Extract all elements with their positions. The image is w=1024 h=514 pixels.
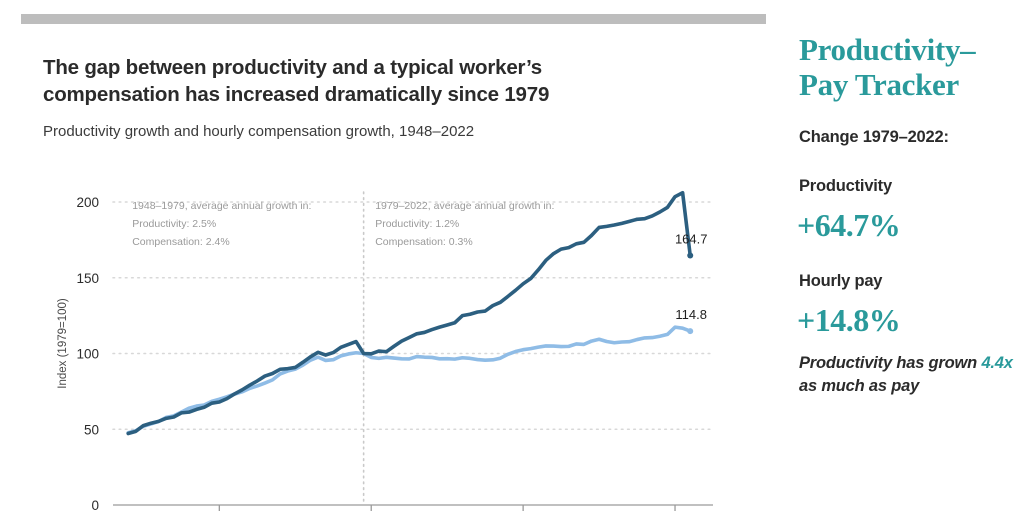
annotation-post-1979-block-line-1: 1979–2022, average annual growth in: <box>375 200 554 212</box>
annotation-post-1979-block-line-3: Compensation: 0.3% <box>375 236 472 248</box>
y-tick-label-200: 200 <box>76 195 99 210</box>
y-axis-label: Index (1979=100) <box>57 298 69 389</box>
annotation-post-1979-block-line-2: Productivity: 1.2% <box>375 218 459 230</box>
kicker-text-part-2: as much as pay <box>799 377 919 395</box>
productivity-metric-value: +64.7% <box>797 207 900 244</box>
kicker-statement: Productivity has grown 4.4x as much as p… <box>799 352 1021 399</box>
kicker-text-part-1: Productivity has grown <box>799 354 981 372</box>
hourly-pay-metric-value: +14.8% <box>797 302 900 339</box>
productivity-metric-label: Productivity <box>799 177 892 196</box>
tracker-title: Productivity– Pay Tracker <box>799 32 1024 102</box>
top-divider-rule <box>21 14 766 24</box>
end-value-label-hourly-compensation: 114.8 <box>675 307 707 322</box>
productivity-pay-tracker-figure: The gap between productivity and a typic… <box>0 0 1024 514</box>
series-endpoint-productivity <box>687 252 693 258</box>
hourly-pay-metric-label: Hourly pay <box>799 272 882 291</box>
kicker-highlight-value: 4.4x <box>981 354 1012 372</box>
chart-panel: The gap between productivity and a typic… <box>0 24 784 514</box>
series-endpoint-hourly-compensation <box>687 328 693 334</box>
annotation-pre-1979-block-line-2: Productivity: 2.5% <box>132 218 216 230</box>
annotation-pre-1979-block-line-3: Compensation: 2.4% <box>132 236 229 248</box>
chart-svg: 0501001502001960198020002020Index (1979=… <box>0 24 784 514</box>
y-tick-label-100: 100 <box>76 347 99 362</box>
series-line-hourly-compensation <box>128 327 690 433</box>
y-tick-label-50: 50 <box>84 422 99 437</box>
line-chart: 0501001502001960198020002020Index (1979=… <box>0 24 784 514</box>
change-period-label: Change 1979–2022: <box>799 128 949 147</box>
tracker-title-line-2: Pay Tracker <box>799 67 959 102</box>
annotation-pre-1979-block-line-1: 1948–1979, average annual growth in: <box>132 200 311 212</box>
end-value-label-productivity: 164.7 <box>675 231 708 246</box>
y-tick-label-150: 150 <box>76 271 99 286</box>
tracker-panel: Productivity– Pay Tracker Change 1979–20… <box>795 0 1024 514</box>
tracker-title-line-1: Productivity– <box>799 32 975 67</box>
y-tick-label-0: 0 <box>91 498 99 513</box>
